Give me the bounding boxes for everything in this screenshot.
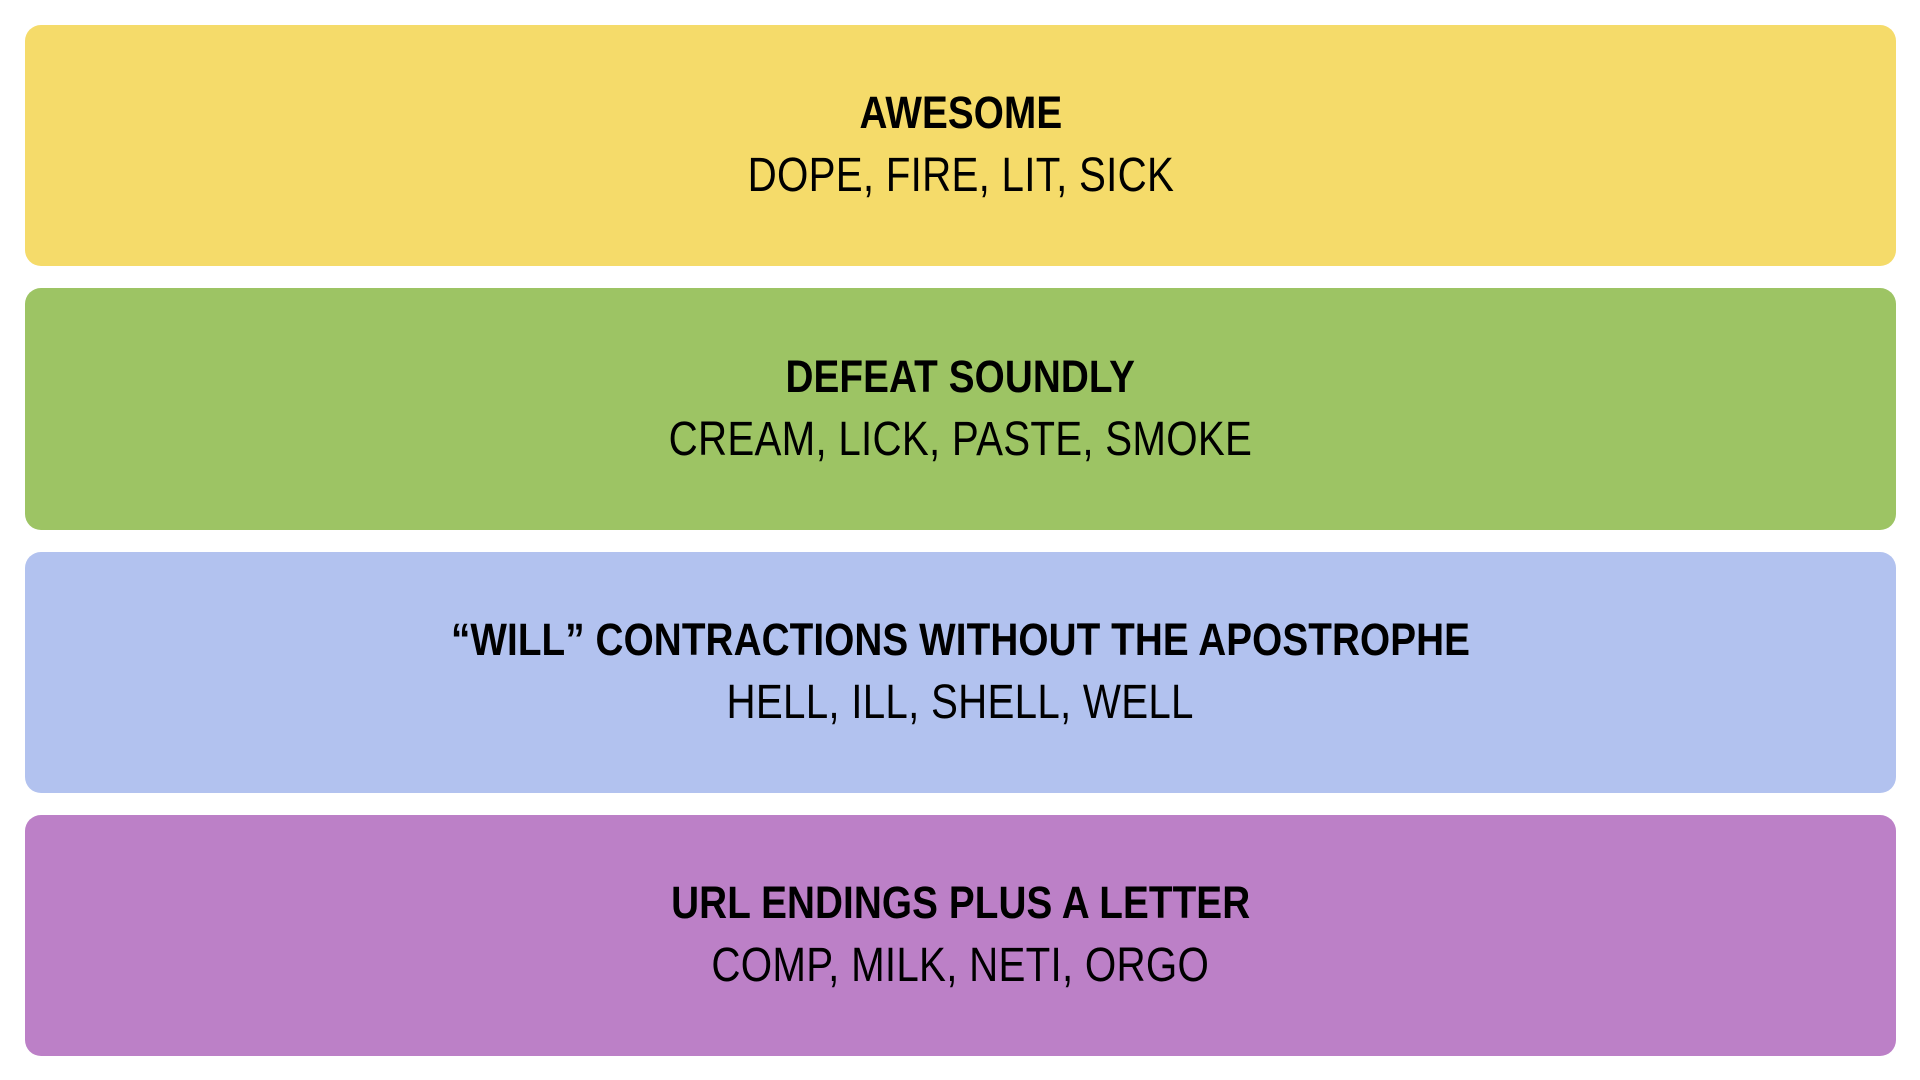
category-members: HELL, ILL, SHELL, WELL [727,674,1194,732]
category-card-green[interactable]: DEFEAT SOUNDLY CREAM, LICK, PASTE, SMOKE [25,288,1896,529]
category-members: DOPE, FIRE, LIT, SICK [747,147,1174,205]
category-title: URL ENDINGS PLUS A LETTER [671,876,1250,929]
category-members: COMP, MILK, NETI, ORGO [712,937,1210,995]
category-card-yellow[interactable]: AWESOME DOPE, FIRE, LIT, SICK [25,25,1896,266]
category-card-purple[interactable]: URL ENDINGS PLUS A LETTER COMP, MILK, NE… [25,815,1896,1056]
category-title: “WILL” CONTRACTIONS WITHOUT THE APOSTROP… [451,613,1470,666]
category-title: DEFEAT SOUNDLY [786,350,1136,403]
connections-solution-board: AWESOME DOPE, FIRE, LIT, SICK DEFEAT SOU… [0,0,1920,1080]
category-members: CREAM, LICK, PASTE, SMOKE [669,411,1253,469]
category-card-blue[interactable]: “WILL” CONTRACTIONS WITHOUT THE APOSTROP… [25,552,1896,793]
category-title: AWESOME [859,86,1062,139]
